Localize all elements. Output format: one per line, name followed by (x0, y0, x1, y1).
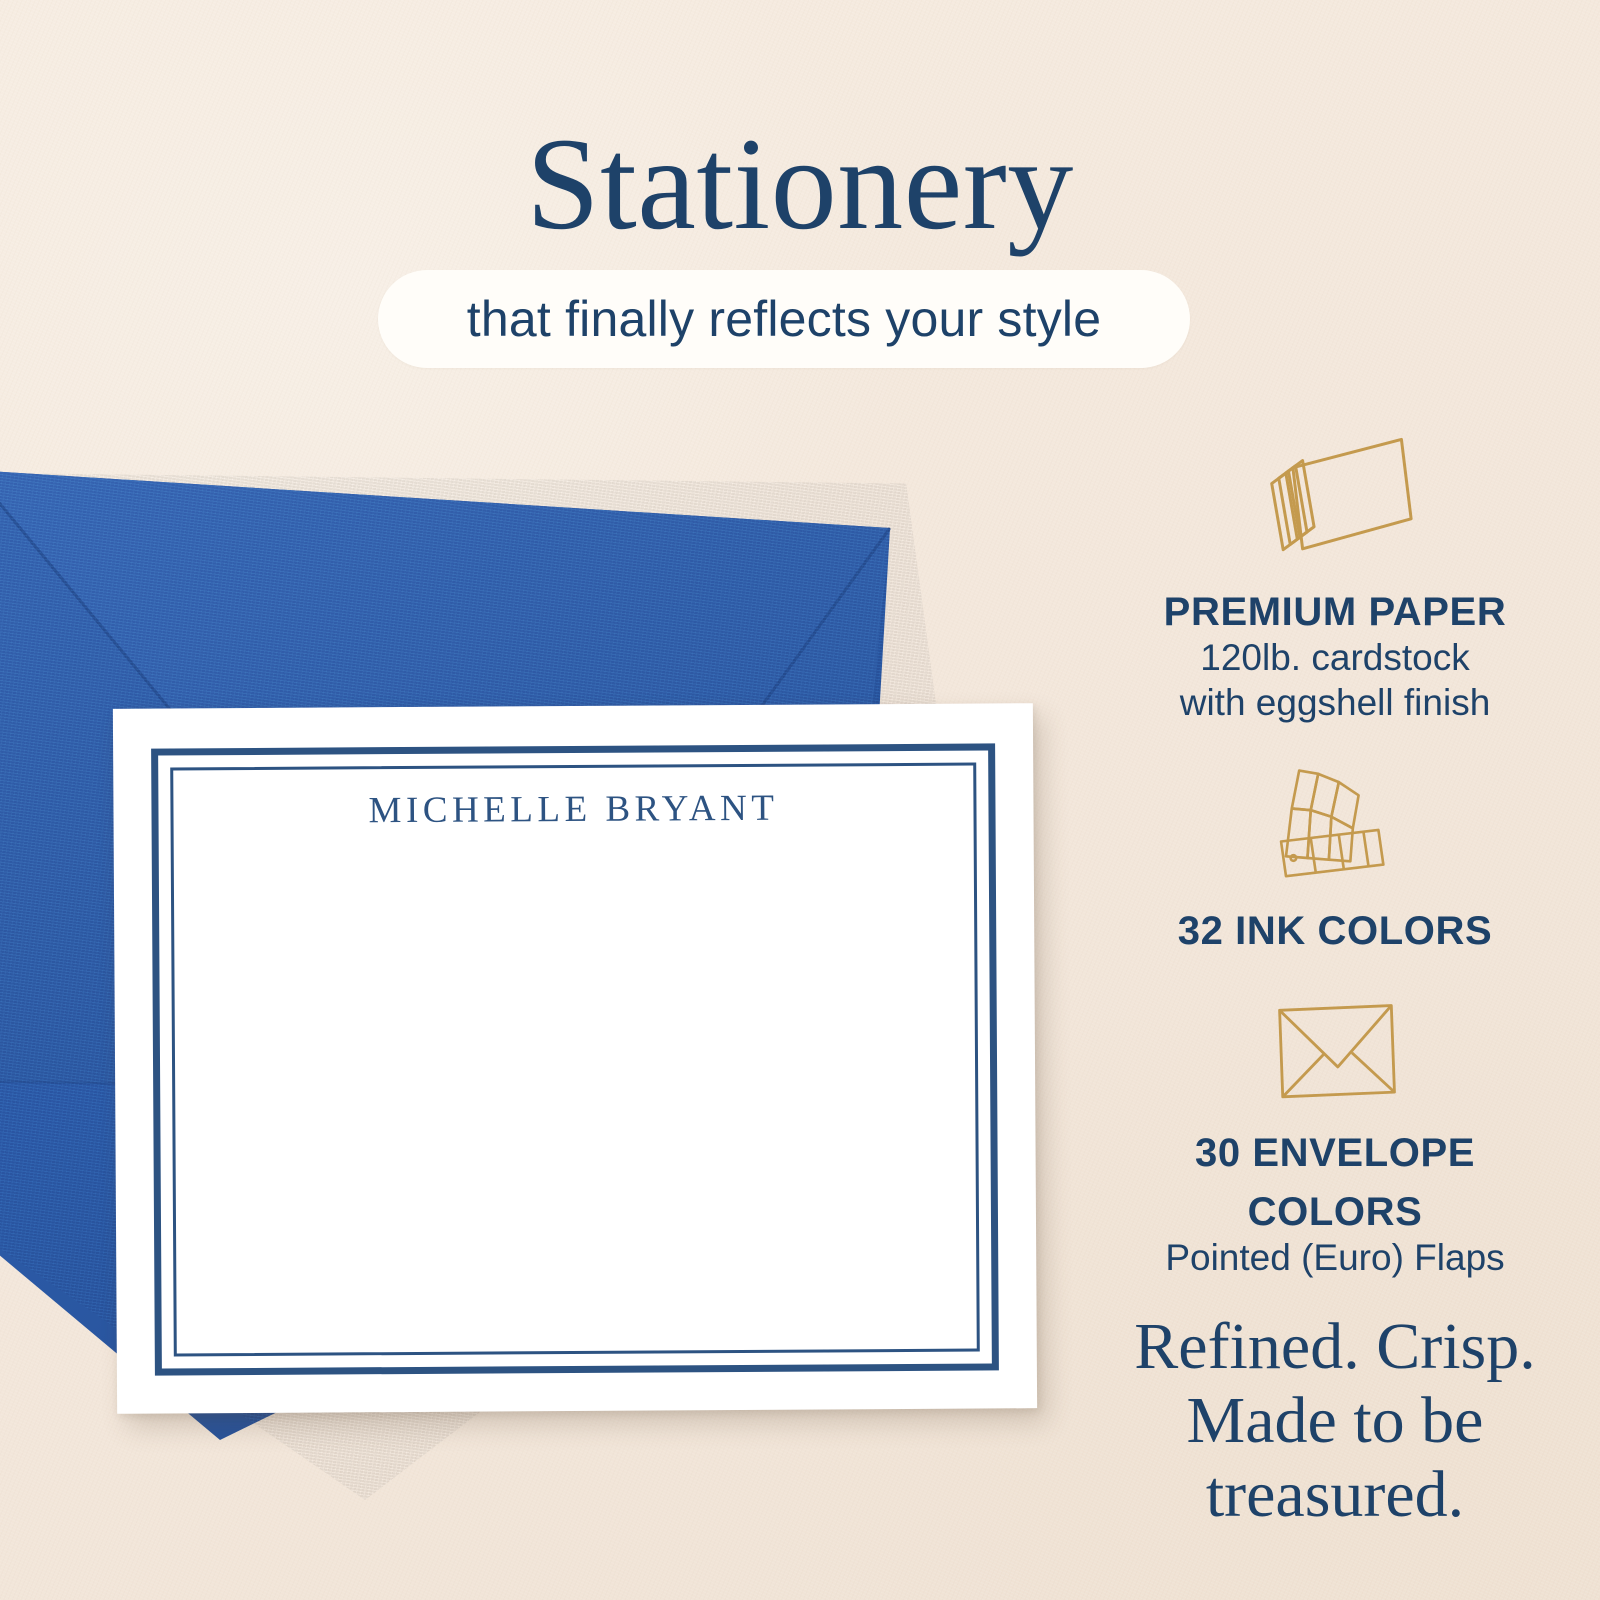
subhead-text: that finally reflects your style (467, 290, 1101, 348)
card-border-outer (151, 743, 999, 1375)
feature-title: 32 INK COLORS (1090, 909, 1580, 954)
feature-ink-colors: 32 INK COLORS (1090, 759, 1580, 954)
card-border-inner (170, 763, 980, 1357)
feature-envelope-colors: 30 ENVELOPE COLORS Pointed (Euro) Flaps (1090, 993, 1580, 1280)
feature-title-line-1: 30 ENVELOPE (1090, 1131, 1580, 1176)
tagline-line-1: Refined. Crisp. (1090, 1310, 1580, 1384)
feature-title-line-2: COLORS (1090, 1190, 1580, 1235)
card-personalized-name: MICHELLE BRYANT (113, 785, 1033, 834)
feature-subline-1: Pointed (Euro) Flaps (1090, 1237, 1580, 1280)
note-card: MICHELLE BRYANT (113, 703, 1037, 1414)
poster-canvas: MICHELLE BRYANT Stationery that finally … (0, 0, 1600, 1600)
subhead-pill: that finally reflects your style (378, 270, 1190, 368)
tagline: Refined. Crisp. Made to be treasured. (1090, 1310, 1580, 1532)
paper-stack-icon (1090, 420, 1580, 576)
feature-subline-2: with eggshell finish (1090, 682, 1580, 725)
feature-premium-paper: PREMIUM PAPER 120lb. cardstock with eggs… (1090, 420, 1580, 725)
feature-title: PREMIUM PAPER (1090, 590, 1580, 635)
feature-subline-1: 120lb. cardstock (1090, 637, 1580, 680)
page-headline: Stationery (0, 118, 1600, 250)
envelope-icon (1090, 993, 1580, 1117)
tagline-line-2: Made to be (1090, 1384, 1580, 1458)
tagline-line-3: treasured. (1090, 1458, 1580, 1532)
feature-list: PREMIUM PAPER 120lb. cardstock with eggs… (1090, 420, 1580, 1532)
color-swatch-fan-icon (1090, 759, 1580, 895)
